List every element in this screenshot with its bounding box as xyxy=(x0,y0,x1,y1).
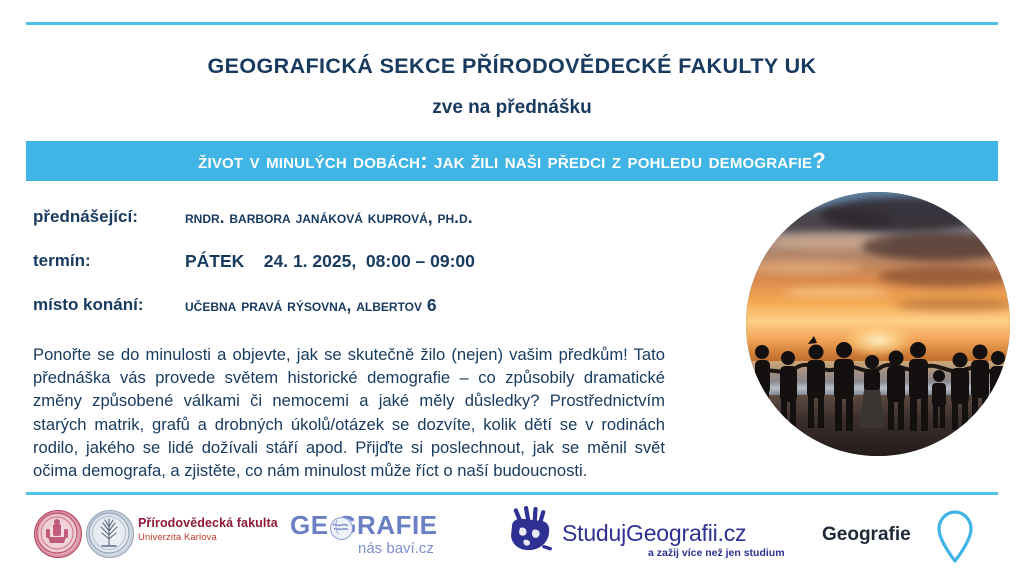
detail-value-speaker: RNDr. Barbora Janáková Kuprová, Ph.D. xyxy=(185,207,473,228)
lecture-title-banner: Život v minulých dobách: Jak žili naši p… xyxy=(26,141,998,181)
photo-people-silhouettes xyxy=(746,192,1010,456)
geografie-nas-bavi-sub-text: nás baví.cz xyxy=(358,540,434,557)
lecture-details-list: přednášející: RNDr. Barbora Janáková Kup… xyxy=(33,205,593,337)
top-divider-rule xyxy=(26,22,998,25)
map-pin-icon xyxy=(932,508,978,564)
globe-icon xyxy=(330,517,353,540)
geografie-pin-logo[interactable]: Geografie xyxy=(822,512,1002,568)
footer-logo-bar: Přírodovědecká fakulta Univerzita Karlov… xyxy=(0,500,1024,576)
faculty-tree-seal-icon xyxy=(86,510,134,558)
detail-label-speaker: přednášející: xyxy=(33,207,138,227)
hand-globe-icon xyxy=(500,506,562,558)
detail-value-venue: učebna Pravá rýsovna, Albertov 6 xyxy=(185,295,437,316)
lecture-description: Ponořte se do minulosti a objevte, jak s… xyxy=(33,343,665,482)
detail-label-date: termín: xyxy=(33,251,91,271)
university-name-label: Univerzita Karlova xyxy=(138,532,217,543)
geografie-pin-label: Geografie xyxy=(822,524,911,546)
detail-row-venue: místo konání: učebna Pravá rýsovna, Albe… xyxy=(33,293,593,337)
geografie-nas-bavi-main-text: GE GRAFIE xyxy=(290,510,438,541)
geografie-nas-bavi-logo[interactable]: GE GRAFIE nás baví.cz xyxy=(290,508,480,564)
organizer-heading: GEOGRAFICKÁ SEKCE PŘÍRODOVĚDECKÉ FAKULTY… xyxy=(0,54,1024,79)
detail-row-speaker: přednášející: RNDr. Barbora Janáková Kup… xyxy=(33,205,593,249)
bottom-divider-rule xyxy=(26,492,998,495)
studuj-geografii-main-text: StudujGeografii.cz xyxy=(562,520,746,547)
detail-value-date: PÁTEK 24. 1. 2025, 08:00 – 09:00 xyxy=(185,251,475,272)
detail-row-date: termín: PÁTEK 24. 1. 2025, 08:00 – 09:00 xyxy=(33,249,593,293)
studuj-geografii-tagline: a zažij více než jen studium xyxy=(648,547,785,559)
sunset-beach-photo xyxy=(746,192,1010,456)
lecture-title-text: Život v minulých dobách: Jak žili naši p… xyxy=(198,148,826,174)
faculty-name-label: Přírodovědecká fakulta xyxy=(138,516,278,530)
charles-university-seal-icon xyxy=(34,510,82,558)
invitation-subheading: zve na přednášku xyxy=(0,97,1024,119)
poster-root: GEOGRAFICKÁ SEKCE PŘÍRODOVĚDECKÉ FAKULTY… xyxy=(0,0,1024,576)
studuj-geografii-logo[interactable]: StudujGeografii.cz a zažij více než jen … xyxy=(500,506,790,568)
detail-label-venue: místo konání: xyxy=(33,295,144,315)
